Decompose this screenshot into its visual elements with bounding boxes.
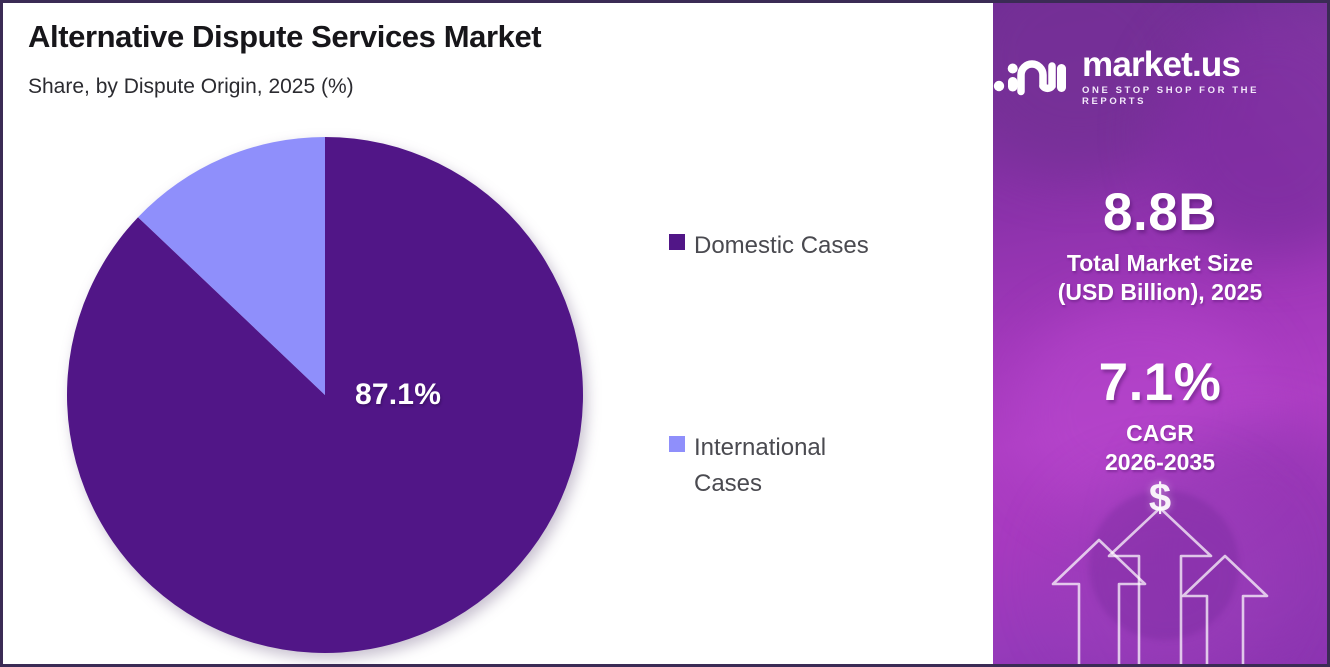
legend: Domestic Cases International Cases [669, 228, 969, 667]
stat-caption-line2: (USD Billion), 2025 [1058, 279, 1262, 305]
growth-decoration: $ [993, 464, 1327, 664]
stat-caption-line1: CAGR [1126, 420, 1194, 446]
legend-swatch-icon [669, 436, 685, 452]
market-us-logo-icon [993, 55, 1073, 102]
stats-sidebar: market.us ONE STOP SHOP FOR THE REPORTS … [993, 3, 1327, 664]
page-subtitle: Share, by Dispute Origin, 2025 (%) [28, 75, 354, 99]
logo-tagline: ONE STOP SHOP FOR THE REPORTS [1082, 85, 1327, 107]
pie-chart: 87.1% [65, 135, 585, 655]
pie-slice-label-domestic: 87.1% [355, 378, 441, 412]
legend-item-label: Domestic Cases [694, 228, 869, 264]
stat-value: 8.8B [993, 185, 1327, 241]
growth-arrows-icon [993, 464, 1327, 664]
stat-caption-line1: Total Market Size [1067, 250, 1253, 276]
logo-text-block: market.us ONE STOP SHOP FOR THE REPORTS [1082, 47, 1327, 107]
legend-item-domestic-cases[interactable]: Domestic Cases [669, 228, 969, 264]
stat-value: 7.1% [993, 355, 1327, 411]
pie-svg [65, 135, 585, 655]
legend-item-label: International Cases [694, 430, 894, 502]
stat-market-size: 8.8B Total Market Size (USD Billion), 20… [993, 185, 1327, 308]
page-title: Alternative Dispute Services Market [28, 19, 541, 55]
chart-panel: Alternative Dispute Services Market Shar… [3, 3, 993, 664]
infographic-root: Alternative Dispute Services Market Shar… [0, 0, 1330, 667]
stat-caption: Total Market Size (USD Billion), 2025 [993, 249, 1327, 308]
brand-logo[interactable]: market.us ONE STOP SHOP FOR THE REPORTS [993, 47, 1327, 107]
legend-item-international-cases[interactable]: International Cases [669, 430, 969, 502]
logo-wordmark: market.us [1082, 47, 1240, 82]
stat-cagr: 7.1% CAGR 2026-2035 [993, 355, 1327, 478]
legend-swatch-icon [669, 234, 685, 250]
